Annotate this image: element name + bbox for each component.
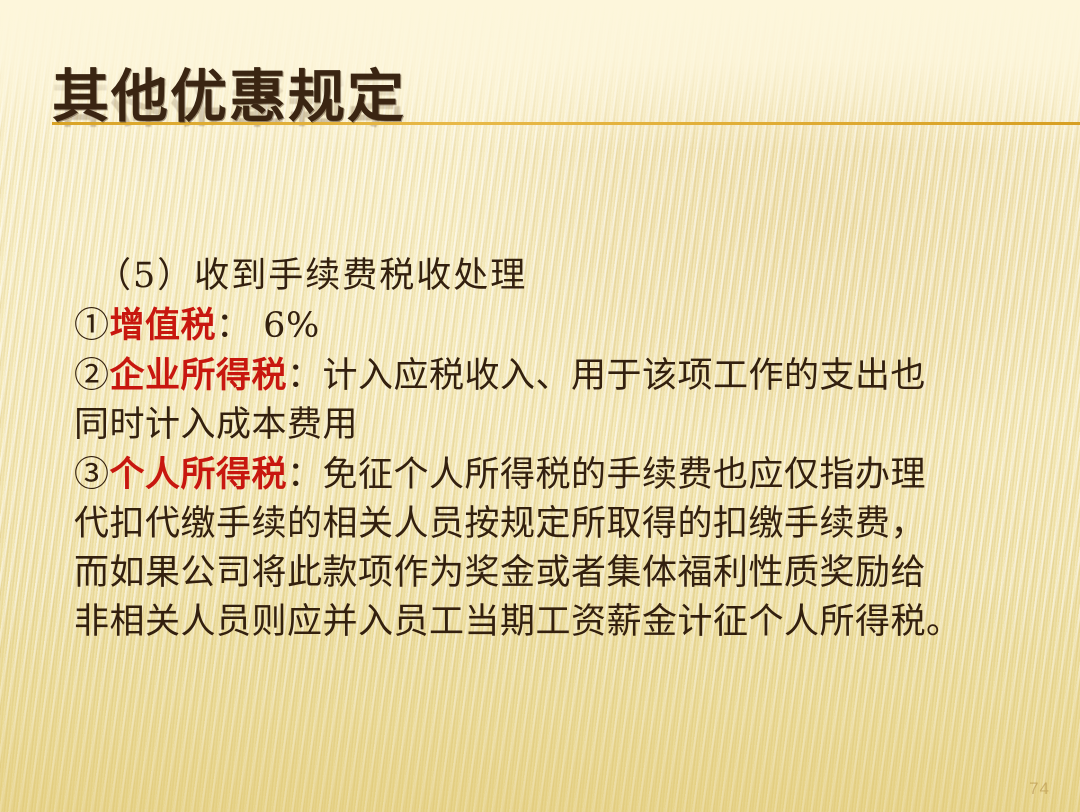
list-item-marker: ① — [74, 306, 110, 346]
list-item-continuation: 代扣代缴手续的相关人员按规定所取得的扣缴手续费， — [74, 500, 1014, 549]
list-item-separator: ： — [287, 356, 323, 396]
list-item-term: 企业所得税 — [110, 355, 288, 396]
list-item-text: 免征个人所得税的手续费也应仅指办理 — [323, 455, 927, 495]
body-heading: （5）收到手续费税收处理 — [74, 252, 1014, 301]
slide-body: （5）收到手续费税收处理 ①增值税： 6% ②企业所得税：计入应税收入、用于该项… — [74, 252, 1014, 647]
list-item-marker: ② — [74, 356, 110, 396]
list-item-text: 6% — [252, 306, 320, 346]
slide-canvas: 其他优惠规定 其他优惠规定 （5）收到手续费税收处理 ①增值税： 6% ②企业所… — [0, 0, 1080, 812]
list-item-separator: ： — [216, 306, 252, 346]
list-item: ①增值税： 6% — [74, 301, 1014, 351]
list-item: ②企业所得税：计入应税收入、用于该项工作的支出也 — [74, 351, 1014, 401]
list-item-separator: ： — [287, 455, 323, 495]
slide-title-block: 其他优惠规定 其他优惠规定 — [52, 66, 1032, 186]
list-item-marker: ③ — [74, 455, 110, 495]
list-item-term: 增值税 — [110, 305, 217, 346]
list-item-term: 个人所得税 — [110, 454, 288, 495]
list-item-continuation: 同时计入成本费用 — [74, 401, 1014, 450]
list-item-continuation: 非相关人员则应并入员工当期工资薪金计征个人所得税。 — [74, 598, 1014, 647]
page-number: 74 — [1029, 779, 1050, 799]
slide-title: 其他优惠规定 — [52, 66, 406, 128]
list-item-continuation: 而如果公司将此款项作为奖金或者集体福利性质奖励给 — [74, 549, 1014, 598]
list-item-text: 计入应税收入、用于该项工作的支出也 — [323, 356, 927, 396]
list-item: ③个人所得税：免征个人所得税的手续费也应仅指办理 — [74, 450, 1014, 500]
